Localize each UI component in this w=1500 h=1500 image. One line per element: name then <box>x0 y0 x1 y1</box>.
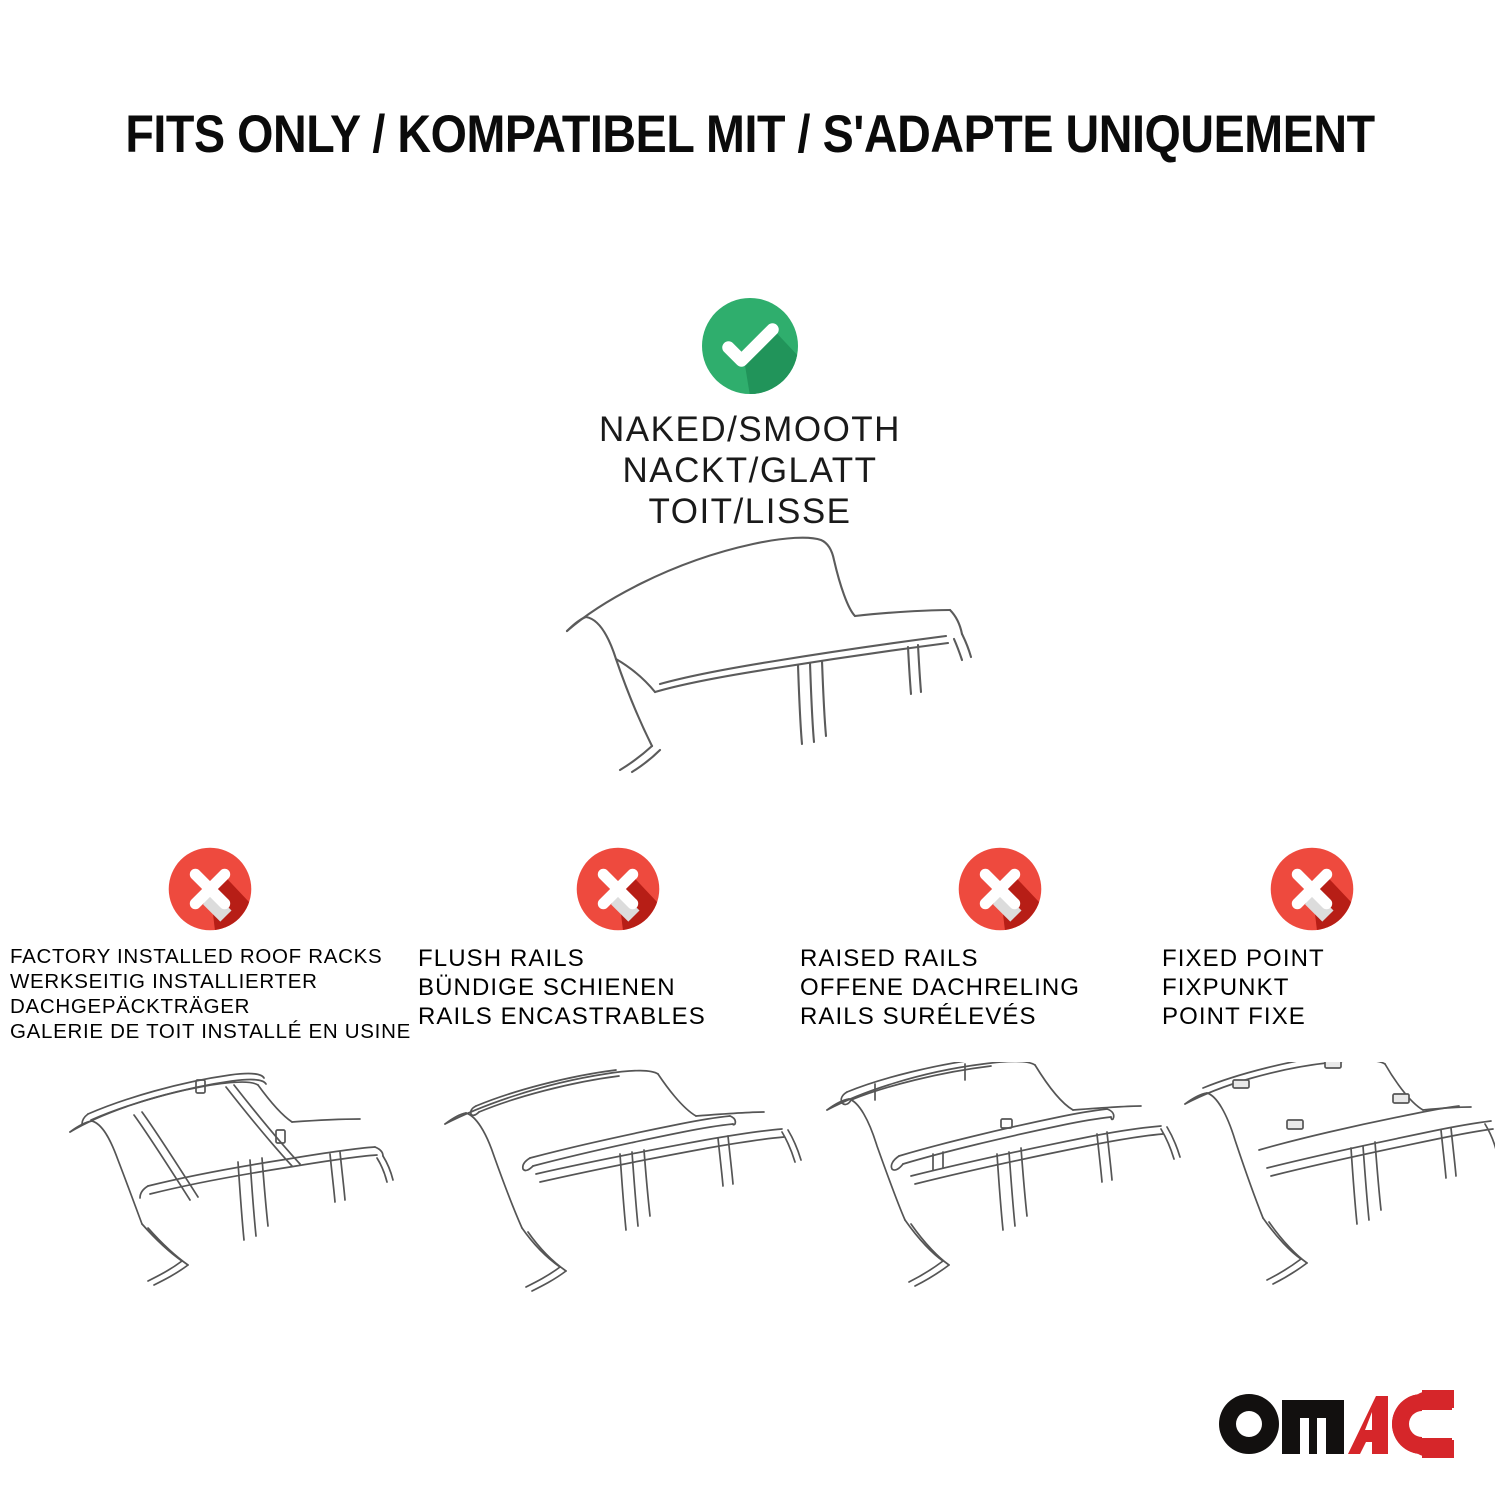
incompatible-illustrations-row <box>0 1062 1500 1322</box>
flush-rails-illustration-wrap <box>430 1062 820 1292</box>
red-x-icon <box>957 846 1043 932</box>
red-x-icon <box>1269 846 1355 932</box>
raised-rails-illustration-wrap <box>815 1062 1205 1292</box>
incompatible-item-factory-roof-racks: FACTORY INSTALLED ROOF RACKS WERKSEITIG … <box>10 846 410 1044</box>
red-x-icon <box>167 846 253 932</box>
incompatible-item-fixed-point: FIXED POINT FIXPUNKT POINT FIXE <box>1162 846 1462 1031</box>
label-line-1: FACTORY INSTALLED ROOF RACKS <box>10 944 410 969</box>
label-line-2: WERKSEITIG INSTALLIERTER <box>10 969 410 994</box>
flush-rails-illustration <box>430 1062 820 1292</box>
compatible-label-line-2: NACKT/GLATT <box>0 451 1500 492</box>
red-x-icon-wrap-flush <box>418 846 818 932</box>
green-check-icon <box>700 296 800 396</box>
label-line-1: FLUSH RAILS <box>418 944 818 973</box>
omac-logo-icon <box>1216 1388 1456 1460</box>
label-line-2: FIXPUNKT <box>1162 973 1462 1002</box>
label-line-3: POINT FIXE <box>1162 1002 1462 1031</box>
incompatible-labels-raised-rails: RAISED RAILS OFFENE DACHRELING RAILS SUR… <box>800 944 1200 1031</box>
fixed-point-illustration <box>1175 1062 1495 1292</box>
brand-logo <box>1216 1388 1456 1460</box>
factory-roof-rack-illustration-wrap <box>30 1062 420 1292</box>
incompatible-item-raised-rails: RAISED RAILS OFFENE DACHRELING RAILS SUR… <box>800 846 1200 1031</box>
label-line-3: DACHGEPÄCKTRÄGER <box>10 994 410 1019</box>
red-x-icon-wrap-raised <box>800 846 1200 932</box>
smooth-roof-illustration-wrap <box>0 524 1500 774</box>
red-x-icon-wrap-fixed <box>1162 846 1462 932</box>
incompatible-labels-fixed-point: FIXED POINT FIXPUNKT POINT FIXE <box>1162 944 1462 1031</box>
green-check-icon-wrap <box>0 296 1500 396</box>
label-line-3: RAILS SURÉLEVÉS <box>800 1002 1200 1031</box>
incompatible-labels-flush-rails: FLUSH RAILS BÜNDIGE SCHIENEN RAILS ENCAS… <box>418 944 818 1031</box>
fixed-point-illustration-wrap <box>1175 1062 1495 1292</box>
smooth-roof-illustration <box>510 524 990 774</box>
label-line-1: FIXED POINT <box>1162 944 1462 973</box>
incompatible-labels-factory-roof-racks: FACTORY INSTALLED ROOF RACKS WERKSEITIG … <box>10 944 410 1044</box>
factory-roof-rack-illustration <box>30 1062 420 1292</box>
label-line-1: RAISED RAILS <box>800 944 1200 973</box>
page-title: FITS ONLY / KOMPATIBEL MIT / S'ADAPTE UN… <box>90 104 1410 165</box>
incompatible-item-flush-rails: FLUSH RAILS BÜNDIGE SCHIENEN RAILS ENCAS… <box>418 846 818 1031</box>
red-x-icon <box>575 846 661 932</box>
label-line-4: GALERIE DE TOIT INSTALLÉ EN USINE <box>10 1019 410 1044</box>
red-x-icon-wrap-factory <box>10 846 410 932</box>
compatible-label-line-1: NAKED/SMOOTH <box>0 410 1500 451</box>
label-line-2: OFFENE DACHRELING <box>800 973 1200 1002</box>
fitment-infographic: FITS ONLY / KOMPATIBEL MIT / S'ADAPTE UN… <box>0 0 1500 1500</box>
label-line-2: BÜNDIGE SCHIENEN <box>418 973 818 1002</box>
incompatible-row: FACTORY INSTALLED ROOF RACKS WERKSEITIG … <box>0 846 1500 1046</box>
compatible-labels: NAKED/SMOOTH NACKT/GLATT TOIT/LISSE <box>0 410 1500 533</box>
compatible-block: NAKED/SMOOTH NACKT/GLATT TOIT/LISSE <box>0 296 1500 533</box>
label-line-3: RAILS ENCASTRABLES <box>418 1002 818 1031</box>
raised-rails-illustration <box>815 1062 1205 1292</box>
